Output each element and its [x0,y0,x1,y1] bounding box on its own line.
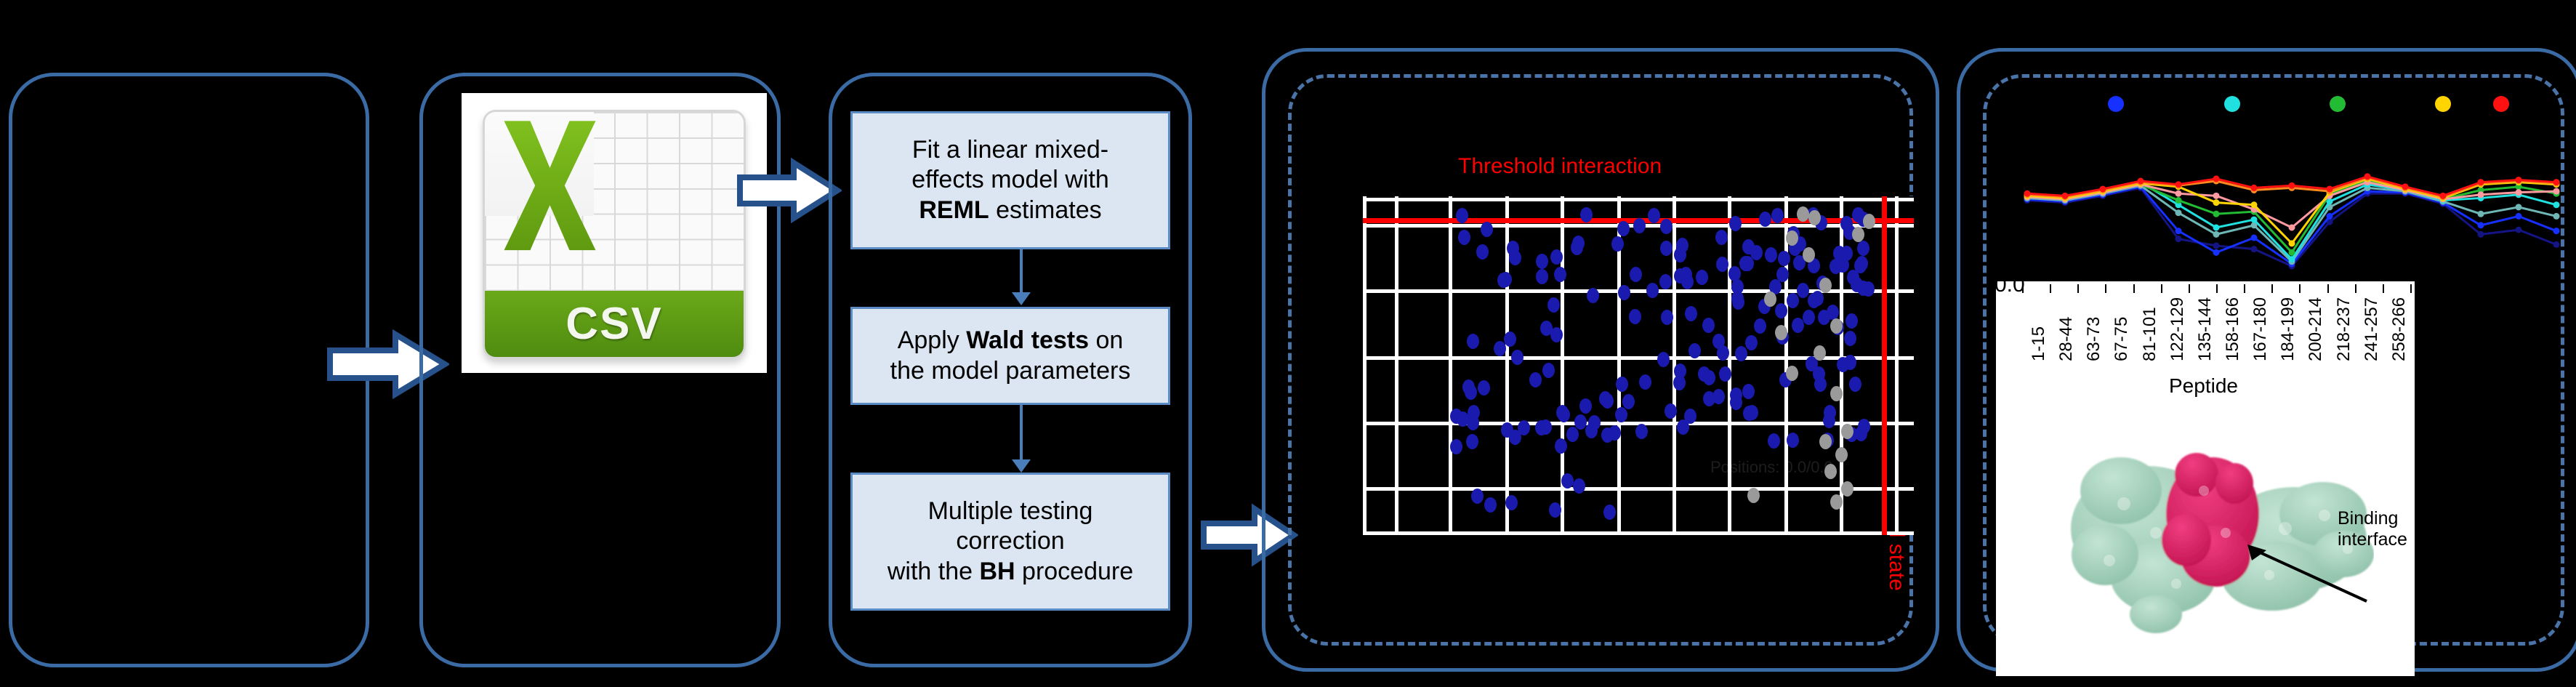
chart-data-point [2100,185,2106,192]
scatter-point [1500,272,1512,287]
gridline-h [1363,487,1914,491]
chart-data-point [2327,213,2333,220]
chart-data-point [2289,256,2295,262]
chart-data-point [2251,201,2258,208]
gridline-v [1784,196,1788,535]
chart-data-point [2364,173,2371,180]
mt-line-3-strong: BH [979,558,1015,585]
scatter-point [1735,346,1747,361]
chart-data-point [2440,193,2447,199]
scatter-point [1603,505,1616,520]
scatter-point [1494,341,1506,356]
peptide-tick-label: 135-144 [2195,297,2215,361]
chart-data-point [2213,193,2220,199]
diagram-canvas: CSV Fit a linear mixed- effects model wi… [0,0,2576,687]
scatter-point [1639,374,1651,390]
wald-line-1c: on [1089,326,1123,354]
gridline-v [1395,196,1398,535]
scatter-point [1844,331,1856,346]
scatter-point [1765,247,1777,262]
fit-line-3-strong: REML [919,196,989,224]
chart-data-point [2516,227,2522,233]
scatter-point [1467,334,1479,349]
scatter-point [1630,267,1642,282]
legend-dot [2493,96,2509,112]
scatter-point [1797,283,1809,298]
wald-line-1a: Apply [898,326,967,354]
scatter-point [1837,357,1849,372]
chart-data-point [2478,231,2484,238]
chart-data-point [2175,236,2182,242]
peptide-tick-label: 67-75 [2112,317,2132,361]
chart-data-point [2402,183,2409,190]
mt-line-2: correction [956,527,1064,555]
chart-data-point [2024,190,2031,197]
structure-figure-card: 0.0 1-1528-4463-7367-7581-101122-129135-… [1996,281,2415,676]
multiple-testing-box: Multiple testing correction with the BH … [850,473,1170,611]
gridline-v [1895,196,1899,535]
scatter-point [1511,350,1524,365]
peptide-tick-label: 63-73 [2084,317,2104,361]
scatter-point [1846,313,1858,329]
peptide-tick-label: 184-199 [2278,297,2298,361]
scatter-point [1719,366,1731,382]
scatter-point [1580,207,1593,222]
scatter-plot: Threshold interaction Threshold state Po… [1308,87,1963,640]
scatter-point [1731,291,1744,306]
scatter-point [1742,384,1755,399]
scatter-point [1841,424,1853,439]
protein-structure-image [2054,405,2374,645]
chart-data-point [2213,199,2220,206]
scatter-point [1661,310,1673,325]
wald-tests-box-text: Apply Wald tests on the model parameters [890,326,1131,386]
arrow-csv-to-model [736,157,842,224]
chart-data-point [2175,228,2182,234]
scatter-point [1814,377,1827,392]
chart-data-point [2213,225,2220,231]
chart-data-point [2175,209,2182,216]
fit-line-3-rest: estimates [989,196,1102,224]
peptide-tick-label: 1-15 [2029,326,2049,361]
scatter-point [1536,269,1548,284]
chart-data-point [2175,181,2182,188]
csv-x-glyph [501,117,599,254]
legend-dot [2435,96,2451,112]
scatter-point [1659,274,1672,289]
scatter-point [1450,439,1462,454]
connector-fit-to-wald-head [1012,292,1031,305]
scatter-point [1462,379,1475,395]
scatter-point [1824,464,1837,479]
scatter-point [1863,214,1875,229]
scatter-point [1716,257,1728,272]
binding-interface-line-2: interface [2338,529,2407,550]
chart-data-point [2516,213,2522,220]
chart-data-point [2213,211,2220,217]
wald-line-2: the model parameters [890,357,1131,385]
scatter-point [1673,375,1686,390]
scatter-point [1837,257,1849,273]
scatter-point [1764,292,1776,307]
peptide-tick-label: 122-129 [2168,297,2188,361]
scatter-point [1554,267,1566,282]
gridline-v [1449,196,1452,535]
panel-input [9,73,369,667]
gridline-v [1728,196,1731,535]
scatter-point [1549,502,1561,518]
scatter-point [1742,256,1754,271]
scatter-plot-area: Positions: 0.0/0.0 [1363,196,1914,535]
scatter-point [1745,335,1758,350]
peptide-tick-label: 28-44 [2056,317,2077,361]
peptide-tick-label: 81-101 [2140,307,2160,361]
chart-data-point [2516,204,2522,210]
mt-line-3a: with the [887,558,980,585]
scatter-point [1542,363,1555,378]
scatter-point [1599,391,1611,406]
multiple-testing-box-text: Multiple testing correction with the BH … [887,497,1133,587]
peptide-line-chart [1995,142,2569,287]
scatter-point [1730,387,1742,403]
scatter-point [1808,293,1820,308]
scatter-point [1536,254,1548,269]
binding-interface-annotation: Binding interface [2338,508,2407,550]
scatter-point [1743,406,1755,421]
peptide-tick-label: 158-166 [2223,297,2243,361]
chart-data-point [2251,235,2258,241]
scatter-point [1858,419,1870,434]
chart-data-point [2289,225,2295,231]
scatter-point [1787,293,1799,308]
chart-data-point [2251,185,2258,191]
gridline-v [1363,196,1367,535]
chart-data-point [2553,188,2560,195]
scatter-point [1579,398,1592,414]
scatter-point [1786,366,1798,381]
chart-data-point [2175,190,2182,197]
scatter-point [1674,247,1686,262]
chart-data-point [2251,246,2258,252]
scatter-point [1835,447,1848,462]
chart-data-point [2138,178,2144,185]
scatter-point [1827,305,1839,320]
chart-data-point [2516,177,2522,183]
scatter-point [1587,288,1599,303]
scatter-point [1771,208,1784,223]
csv-label-band: CSV [485,291,743,357]
scatter-point [1484,497,1497,513]
scatter-point [1808,210,1821,225]
chart-data-point [2213,249,2220,256]
scatter-point [1617,221,1630,236]
chart-data-point [2553,179,2560,185]
chart-data-point [2553,213,2560,220]
scatter-point [1616,377,1628,392]
scatter-point [1712,389,1725,404]
scatter-point [1819,434,1832,449]
scatter-point [1862,281,1875,297]
csv-file-icon: CSV [462,93,767,373]
scatter-point [1555,438,1567,454]
chart-data-point [2478,222,2484,228]
binding-interface-line-1: Binding [2338,508,2407,529]
gridline-h [1363,289,1914,293]
chart-data-point [2213,175,2220,182]
scatter-point [1754,318,1766,334]
scatter-point [1466,434,1478,449]
scatter-point [1660,241,1673,256]
scatter-point [1478,380,1490,395]
wald-line-1-strong: Wald tests [966,326,1089,354]
scatter-point [1696,270,1708,285]
threshold-interaction-label: Threshold interaction [1458,154,1662,179]
scatter-point [1566,427,1579,442]
peptide-tick-labels: 1-1528-4463-7367-7581-101122-129135-1441… [1996,292,2415,364]
scatter-point [1573,478,1585,494]
scatter-point [1539,419,1552,435]
wald-tests-box: Apply Wald tests on the model parameters [850,307,1170,405]
scatter-point [1529,372,1542,387]
scatter-point [1819,278,1832,293]
scatter-point [1648,208,1660,223]
scatter-point [1712,334,1725,349]
scatter-point [1830,386,1843,401]
csv-icon-body: CSV [483,110,745,359]
fit-model-box: Fit a linear mixed- effects model with R… [850,111,1170,249]
scatter-point [1618,285,1630,300]
scatter-point [1685,306,1697,321]
scatter-point [1775,303,1787,318]
scatter-point [1729,216,1742,231]
peptide-axis-title: Peptide [2169,374,2238,398]
legend-dot [2330,96,2346,112]
fit-line-2: effects model with [911,166,1109,193]
scatter-point [1476,244,1489,260]
scatter-point [1601,427,1614,443]
scatter-point [1776,267,1789,282]
scatter-point [1588,415,1601,430]
scatter-point [1759,212,1771,227]
scatter-point [1856,256,1868,271]
scatter-point [1481,222,1493,237]
scatter-point [1547,297,1560,313]
scatter-point [1611,236,1624,252]
peptide-tick-label: 258-266 [2389,297,2410,361]
chart-data-point [2478,191,2484,198]
chart-data-point [2478,179,2484,185]
chart-data-point [2553,241,2560,248]
scatter-point [1471,489,1484,504]
fit-model-box-text: Fit a linear mixed- effects model with R… [911,135,1109,225]
scatter-point [1458,230,1470,245]
legend-dot [2224,96,2240,112]
scatter-point [1633,218,1646,233]
scatter-point [1787,433,1799,448]
scatter-point [1615,407,1627,422]
chart-data-point [2213,231,2220,238]
scatter-point [1702,318,1715,333]
scatter-point [1505,495,1518,510]
scatter-point [1742,239,1755,254]
scatter-point [1660,219,1673,234]
connector-wald-to-bh [1020,405,1023,463]
scatter-point [1571,240,1583,255]
scatter-point [1509,430,1521,445]
scatter-point [1841,481,1853,497]
scatter-point [1803,310,1815,325]
chart-data-point [2289,249,2295,256]
scatter-point [1504,332,1516,347]
csv-label: CSV [565,298,662,350]
chart-data-point [2251,217,2258,223]
gridline-h [1363,356,1914,360]
scatter-point [1558,407,1570,422]
peptide-tick-label: 218-237 [2334,297,2354,361]
scatter-point [1852,207,1864,222]
scatter-point [1646,283,1659,298]
peptide-tick-label: 167-180 [2250,297,2271,361]
scatter-point [1857,241,1869,256]
chart-data-point [2478,211,2484,217]
scatter-point [1849,377,1861,392]
peptide-tick-label: 200-214 [2306,297,2326,361]
scatter-point [1635,424,1648,439]
threshold-state-line [1882,196,1887,535]
chart-data-point [2213,242,2220,249]
mt-line-3c: procedure [1015,558,1134,585]
chart-data-point [2175,197,2182,204]
mt-line-1: Multiple testing [928,497,1093,525]
chart-data-point [2516,189,2522,196]
chart-data-point [2553,228,2560,234]
chart-data-point [2289,182,2295,189]
scatter-point [1830,318,1843,334]
legend-dot [2108,96,2124,112]
chart-data-point [2062,193,2069,199]
connector-wald-to-bh-head [1012,459,1031,473]
peptide-tick-label: 241-257 [2362,297,2382,361]
scatter-point [1792,318,1804,333]
scatter-point [1768,433,1780,449]
scatter-point [1778,251,1790,266]
peptide-tick-label: 277-284 [2417,297,2437,361]
chart-data-point [2327,185,2333,192]
chart-data-point [2289,240,2295,246]
connector-fit-to-wald [1020,249,1023,296]
scatter-point [1677,419,1689,435]
scatter-point [1715,230,1728,245]
gridline-h [1363,531,1914,535]
scatter-point [1629,309,1641,324]
gridline-h [1363,198,1914,201]
scatter-point [1851,277,1863,292]
scatter-point [1657,352,1670,367]
scatter-point [1747,488,1760,503]
fit-line-1: Fit a linear mixed- [912,136,1108,164]
chart-data-point [2553,201,2560,208]
